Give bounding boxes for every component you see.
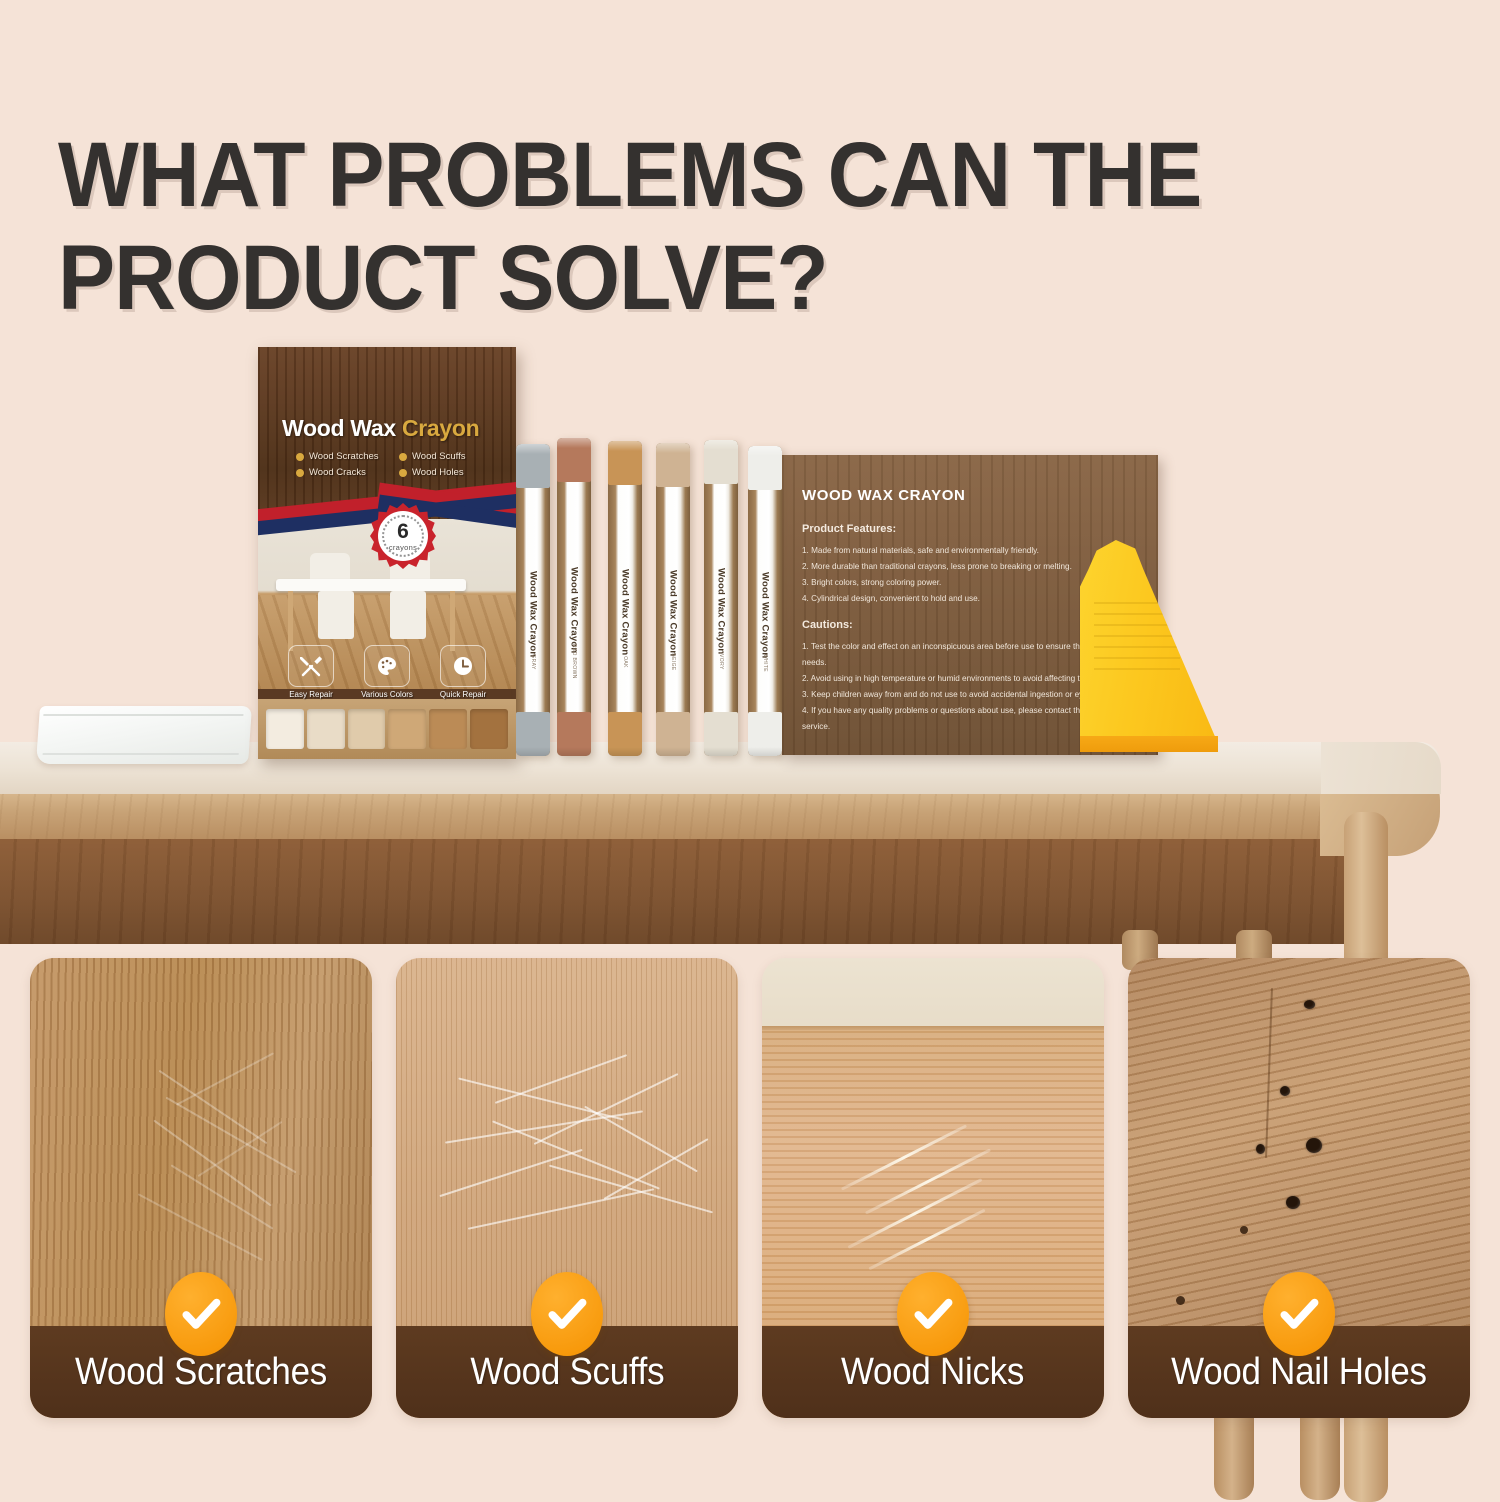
palette-icon [364, 645, 410, 687]
polishing-cloth [36, 706, 252, 764]
card-title: WOOD WAX CRAYON [802, 487, 965, 504]
crayon-stick: Wood Wax Crayon RED BROWN [557, 438, 591, 756]
panel-caption: Wood Scratches [75, 1351, 327, 1394]
problem-panel-grid: Wood Scratches Wood Scuffs [30, 958, 1470, 1418]
card-features-heading: Product Features: [802, 523, 896, 535]
crayon-foot [608, 712, 642, 756]
mini-dining-table [276, 579, 466, 591]
scraper-grip-ridges [1094, 602, 1180, 674]
product-package-box: Wood Wax Crayon Wood Scratches Wood Scuf… [258, 347, 516, 759]
color-swatch [470, 709, 508, 749]
checkmark-icon [897, 1272, 969, 1356]
page-title: WHAT PROBLEMS CAN THE PRODUCT SOLVE? [58, 124, 1221, 330]
box-title: Wood Wax Crayon [282, 415, 479, 442]
clock-icon [440, 645, 486, 687]
six-crayons-badge: 6 crayons [370, 503, 436, 569]
panel-caption: Wood Scuffs [470, 1351, 664, 1394]
checkmark-icon [165, 1272, 237, 1356]
bullet-dot-icon [296, 469, 304, 477]
color-swatch [266, 709, 304, 749]
color-swatch [348, 709, 386, 749]
table-apron [0, 836, 1360, 944]
crayon-foot [557, 712, 591, 756]
problem-panel-wood-scuffs[interactable]: Wood Scuffs [396, 958, 738, 1418]
table-edge [0, 791, 1380, 839]
crayon-stick: Wood Wax Crayon BEIGE [656, 443, 690, 756]
box-color-swatches [258, 699, 516, 759]
crayon-cap [704, 440, 738, 484]
box-bullet-item: Wood Scratches [296, 451, 393, 462]
crayon-cap [516, 444, 550, 488]
crayon-stick: Wood Wax Crayon GRAY [516, 444, 550, 756]
panel-caption: Wood Nail Holes [1171, 1351, 1427, 1394]
product-infographic: WHAT PROBLEMS CAN THE PRODUCT SOLVE? Woo… [0, 0, 1500, 1500]
box-bullet-item: Wood Cracks [296, 467, 393, 478]
checkmark-icon [531, 1272, 603, 1356]
color-swatch [429, 709, 467, 749]
box-bullet-list: Wood Scratches Wood Scuffs Wood Cracks W… [296, 451, 496, 478]
crayon-cap [608, 441, 642, 485]
bullet-dot-icon [399, 453, 407, 461]
feature-easy-repair: Easy Repair [280, 645, 342, 699]
card-cautions-heading: Cautions: [802, 619, 853, 631]
box-bullet-item: Wood Holes [399, 467, 496, 478]
problem-panel-wood-scratches[interactable]: Wood Scratches [30, 958, 372, 1418]
problem-panel-wood-nail-holes[interactable]: Wood Nail Holes [1128, 958, 1470, 1418]
checkmark-icon [1263, 1272, 1335, 1356]
feature-various-colors: Various Colors [356, 645, 418, 699]
crayon-stick: Wood Wax Crayon OAK [608, 441, 642, 756]
crayon-cap [748, 446, 782, 490]
crayon-cap [656, 443, 690, 487]
tools-icon [288, 645, 334, 687]
headline-line-2: PRODUCT SOLVE? [58, 227, 1221, 330]
bullet-dot-icon [399, 469, 407, 477]
headline-line-1: WHAT PROBLEMS CAN THE [58, 124, 1201, 226]
color-swatch [307, 709, 345, 749]
crayon-foot [704, 712, 738, 756]
box-title-gold: Crayon [402, 415, 479, 441]
problem-panel-wood-nicks[interactable]: Wood Nicks [762, 958, 1104, 1418]
panel-caption: Wood Nicks [841, 1351, 1024, 1394]
box-feature-icons: Easy Repair Various Colors [280, 645, 494, 699]
crayon-stick: Wood Wax Crayon WHITE [748, 446, 782, 756]
crayon-foot [516, 712, 550, 756]
crayon-stick: Wood Wax Crayon IVORY [704, 440, 738, 756]
crayon-cap [557, 438, 591, 482]
scraper-base [1080, 736, 1218, 752]
box-bullet-item: Wood Scuffs [399, 451, 496, 462]
color-swatch [388, 709, 426, 749]
bullet-dot-icon [296, 453, 304, 461]
crayon-foot [656, 712, 690, 756]
crayon-foot [748, 712, 782, 756]
box-title-white: Wood Wax [282, 415, 402, 441]
feature-quick-repair: Quick Repair [432, 645, 494, 699]
